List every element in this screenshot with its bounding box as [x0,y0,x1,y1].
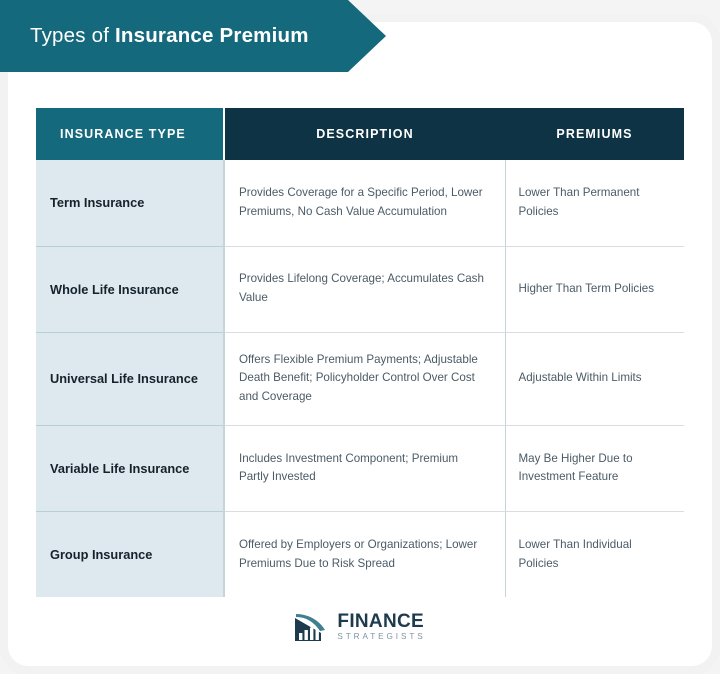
table-header: Insurance Type Description Premiums [36,108,684,160]
cell-premiums: Lower Than Permanent Policies [505,160,684,246]
cell-description: Provides Coverage for a Specific Period,… [224,160,505,246]
table-row: Group Insurance Offered by Employers or … [36,511,684,597]
table-body: Term Insurance Provides Coverage for a S… [36,160,684,597]
page-title: Types of Insurance Premium [0,24,309,48]
table-header-row: Insurance Type Description Premiums [36,108,684,160]
insurance-premium-table-wrapper: Insurance Type Description Premiums Term… [36,108,684,597]
cell-description: Includes Investment Component; Premium P… [224,425,505,511]
cell-insurance-type: Whole Life Insurance [36,246,224,332]
cell-insurance-type: Universal Life Insurance [36,332,224,425]
cell-description: Provides Lifelong Coverage; Accumulates … [224,246,505,332]
cell-description: Offers Flexible Premium Payments; Adjust… [224,332,505,425]
table-row: Whole Life Insurance Provides Lifelong C… [36,246,684,332]
cell-insurance-type: Variable Life Insurance [36,425,224,511]
cell-insurance-type: Group Insurance [36,511,224,597]
banner-title-ribbon: Types of Insurance Premium [0,0,386,72]
cell-premiums: Lower Than Individual Policies [505,511,684,597]
cell-premiums: Higher Than Term Policies [505,246,684,332]
footer: FINANCE STRATEGISTS [0,612,720,642]
insurance-premium-table: Insurance Type Description Premiums Term… [36,108,684,597]
page-title-regular: Types of [30,24,115,47]
cell-insurance-type: Term Insurance [36,160,224,246]
table-row: Universal Life Insurance Offers Flexible… [36,332,684,425]
bar-chart-swoosh-icon [294,612,330,642]
finance-strategists-logo: FINANCE STRATEGISTS [294,612,425,642]
column-header-insurance-type: Insurance Type [36,108,224,160]
logo-wordmark: FINANCE STRATEGISTS [337,612,425,641]
column-header-premiums: Premiums [505,108,684,160]
cell-description: Offered by Employers or Organizations; L… [224,511,505,597]
logo-name: FINANCE [337,612,425,631]
page-title-bold: Insurance Premium [115,24,309,47]
column-header-description: Description [224,108,505,160]
cell-premiums: Adjustable Within Limits [505,332,684,425]
table-row: Variable Life Insurance Includes Investm… [36,425,684,511]
table-row: Term Insurance Provides Coverage for a S… [36,160,684,246]
logo-tagline: STRATEGISTS [337,633,425,641]
cell-premiums: May Be Higher Due to Investment Feature [505,425,684,511]
